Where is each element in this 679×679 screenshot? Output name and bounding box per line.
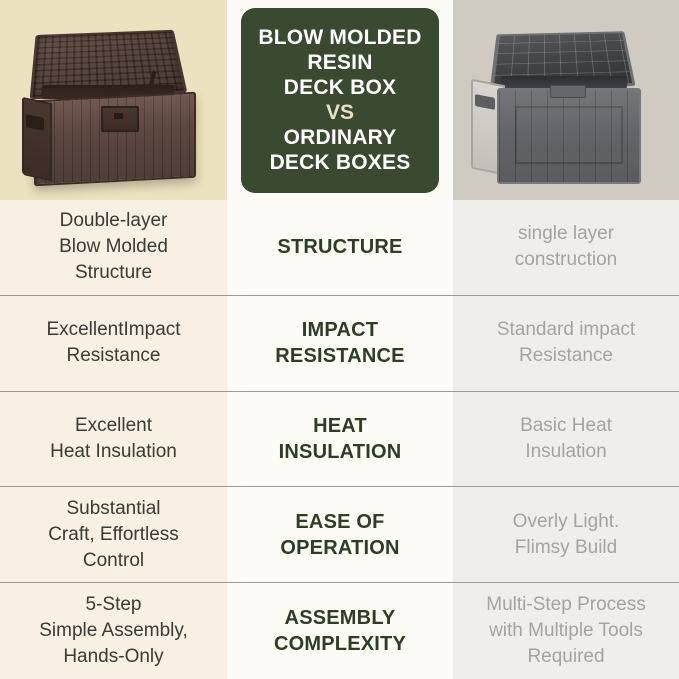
ordinary-deck-box-body	[497, 88, 641, 184]
blow-molded-resin-deck-box-image	[0, 0, 227, 200]
row-feature-label: EASE OF OPERATION	[227, 487, 453, 582]
comparison-table: Double-layer Blow Molded Structure STRUC…	[0, 200, 679, 679]
row-theirs-value: Overly Light. Flimsy Build	[453, 487, 679, 582]
table-row: Excellent Heat Insulation HEAT INSULATIO…	[0, 392, 679, 488]
title-line-5: DECK BOXES	[270, 150, 411, 175]
right-product-header-cell	[453, 0, 679, 200]
row-theirs-value: Multi-Step Process with Multiple Tools R…	[453, 583, 679, 679]
deck-box-latch	[101, 106, 139, 132]
ordinary-deck-box-image	[453, 0, 679, 200]
row-theirs-value: single layer construction	[453, 200, 679, 295]
versus-label: VS	[326, 100, 354, 125]
row-feature-label: IMPACT RESISTANCE	[227, 296, 453, 391]
table-row: 5-Step Simple Assembly, Hands-Only ASSEM…	[0, 583, 679, 679]
row-feature-label: STRUCTURE	[227, 200, 453, 295]
row-theirs-value: Basic Heat Insulation	[453, 392, 679, 487]
row-ours-value: Substantial Craft, Effortless Control	[0, 487, 227, 582]
table-row: Double-layer Blow Molded Structure STRUC…	[0, 200, 679, 296]
row-feature-label: HEAT INSULATION	[227, 392, 453, 487]
row-ours-value: Excellent Heat Insulation	[0, 392, 227, 487]
table-row: Substantial Craft, Effortless Control EA…	[0, 487, 679, 583]
left-product-header-cell	[0, 0, 227, 200]
title-header-cell: BLOW MOLDED RESIN DECK BOX VS ORDINARY D…	[227, 0, 453, 200]
title-line-4: ORDINARY	[284, 125, 397, 150]
comparison-infographic: BLOW MOLDED RESIN DECK BOX VS ORDINARY D…	[0, 0, 679, 679]
row-ours-value: ExcellentImpact Resistance	[0, 296, 227, 391]
row-theirs-value: Standard impact Resistance	[453, 296, 679, 391]
row-ours-value: Double-layer Blow Molded Structure	[0, 200, 227, 295]
header-band: BLOW MOLDED RESIN DECK BOX VS ORDINARY D…	[0, 0, 679, 200]
title-line-3: DECK BOX	[284, 75, 396, 100]
title-plaque: BLOW MOLDED RESIN DECK BOX VS ORDINARY D…	[241, 8, 439, 193]
row-ours-value: 5-Step Simple Assembly, Hands-Only	[0, 583, 227, 679]
title-line-2: RESIN	[307, 50, 372, 75]
ordinary-deck-box-latch	[550, 85, 586, 98]
deck-box-side-panel	[22, 97, 52, 181]
table-row: ExcellentImpact Resistance IMPACT RESIST…	[0, 296, 679, 392]
row-feature-label: ASSEMBLY COMPLEXITY	[227, 583, 453, 679]
title-line-1: BLOW MOLDED	[258, 25, 421, 50]
